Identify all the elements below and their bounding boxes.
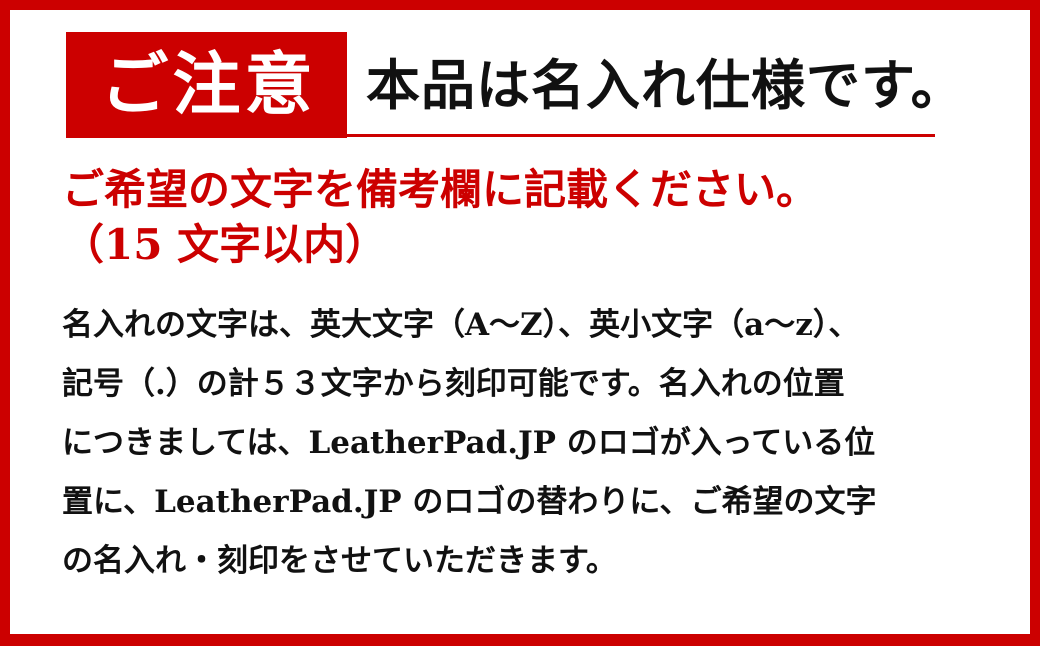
body-line-5: の名入れ・刻印をさせていただきます。: [62, 532, 942, 591]
alert-tag: ご注意: [66, 32, 347, 138]
headline: 本品は名入れ仕様です。: [366, 32, 966, 138]
body-line-3: につきましては、LeatherPad.JP のロゴが入っている位: [62, 414, 942, 473]
alert-tag-label: ご注意: [96, 51, 316, 119]
frame-border-bottom: [0, 634, 1040, 646]
header-row: ご注意 本品は名入れ仕様です。: [66, 32, 936, 138]
frame-border-left: [0, 0, 10, 646]
frame-border-top: [0, 0, 1040, 10]
subheading-block: ご希望の文字を備考欄に記載ください。 （15 文字以内）: [62, 162, 942, 273]
body-paragraph: 名入れの文字は、英大文字（A〜Z）、英小文字（a〜z）、 記号（.）の計５３文字…: [62, 296, 942, 591]
subheading-line-2: （15 文字以内）: [62, 217, 942, 272]
frame-border-right: [1030, 0, 1040, 646]
body-line-1: 名入れの文字は、英大文字（A〜Z）、英小文字（a〜z）、: [62, 296, 942, 355]
headline-text: 本品は名入れ仕様です。: [366, 58, 966, 112]
header-divider-rule: [347, 134, 935, 137]
body-line-2: 記号（.）の計５３文字から刻印可能です。名入れの位置: [62, 355, 942, 414]
notice-banner: ご注意 本品は名入れ仕様です。 ご希望の文字を備考欄に記載ください。 （15 文…: [0, 0, 1040, 646]
subheading-line-1: ご希望の文字を備考欄に記載ください。: [62, 162, 942, 217]
body-line-4: 置に、LeatherPad.JP のロゴの替わりに、ご希望の文字: [62, 473, 942, 532]
